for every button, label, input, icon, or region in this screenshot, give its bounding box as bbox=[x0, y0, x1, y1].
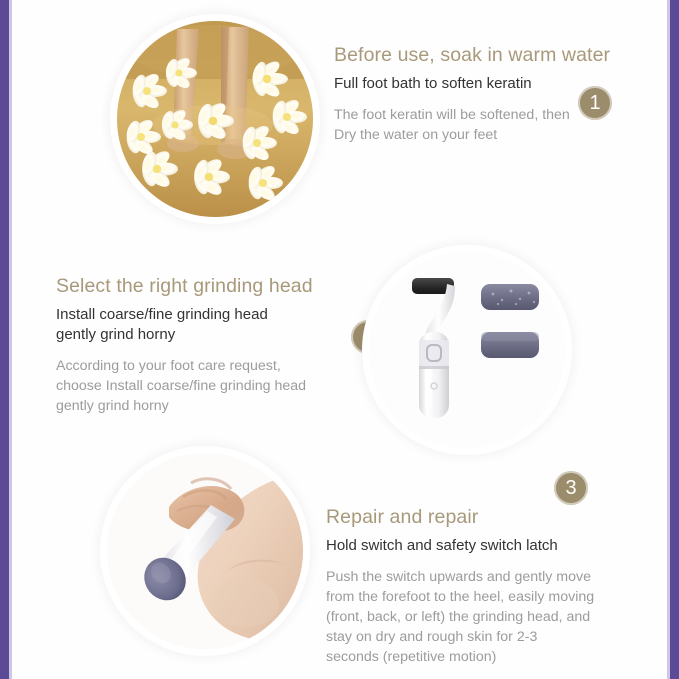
step-2-body-line: gently grind horny bbox=[56, 396, 356, 416]
step-1-body: The foot keratin will be softened, then … bbox=[334, 105, 664, 145]
step-2-heading: Select the right grinding head bbox=[56, 275, 356, 298]
step-1-number-badge: 1 bbox=[578, 86, 612, 120]
device-with-grinding-heads-photo bbox=[369, 252, 565, 448]
step-3-body-line: seconds (repetitive motion) bbox=[326, 647, 656, 667]
step-2-body-line: According to your foot care request, bbox=[56, 356, 356, 376]
device-in-use-on-heel-photo bbox=[107, 453, 303, 649]
step-1-photo bbox=[110, 14, 320, 224]
step-3-body-line: Push the switch upwards and gently move bbox=[326, 567, 656, 587]
step-1-row: Before use, soak in warm water Full foot… bbox=[0, 14, 679, 224]
step-2-row: Select the right grinding head Install c… bbox=[0, 245, 679, 455]
step-3-body: Push the switch upwards and gently move … bbox=[326, 567, 656, 668]
step-2-photo bbox=[362, 245, 572, 455]
step-1-body-line: The foot keratin will be softened, then bbox=[334, 105, 664, 125]
step-3-text: Repair and repair Hold switch and safety… bbox=[326, 446, 656, 668]
step-3-photo bbox=[100, 446, 310, 656]
step-1-heading: Before use, soak in warm water bbox=[334, 44, 664, 67]
step-1-body-line: Dry the water on your feet bbox=[334, 125, 664, 145]
step-1-text: Before use, soak in warm water Full foot… bbox=[334, 14, 664, 145]
step-3-body-line: (front, back, or left) the grinding head… bbox=[326, 607, 656, 627]
step-1-subheading: Full foot bath to soften keratin bbox=[334, 74, 664, 94]
step-3-subheading: Hold switch and safety switch latch bbox=[326, 536, 656, 556]
step-3-body-line: from the forefoot to the heel, easily mo… bbox=[326, 587, 656, 607]
step-2-body-line: choose Install coarse/fine grinding head bbox=[56, 376, 356, 396]
instruction-infographic: Before use, soak in warm water Full foot… bbox=[0, 0, 679, 679]
step-3-heading: Repair and repair bbox=[326, 506, 656, 529]
foot-bath-with-flowers-photo bbox=[117, 21, 313, 217]
step-3-body-line: stay on dry and rough skin for 2-3 bbox=[326, 627, 656, 647]
step-2-text: Select the right grinding head Install c… bbox=[56, 245, 356, 416]
step-3-row: Repair and repair Hold switch and safety… bbox=[0, 446, 679, 668]
step-2-subheading: Install coarse/fine grinding head gently… bbox=[56, 305, 306, 345]
step-3-number-badge: 3 bbox=[554, 471, 588, 505]
step-2-body: According to your foot care request, cho… bbox=[56, 356, 356, 416]
